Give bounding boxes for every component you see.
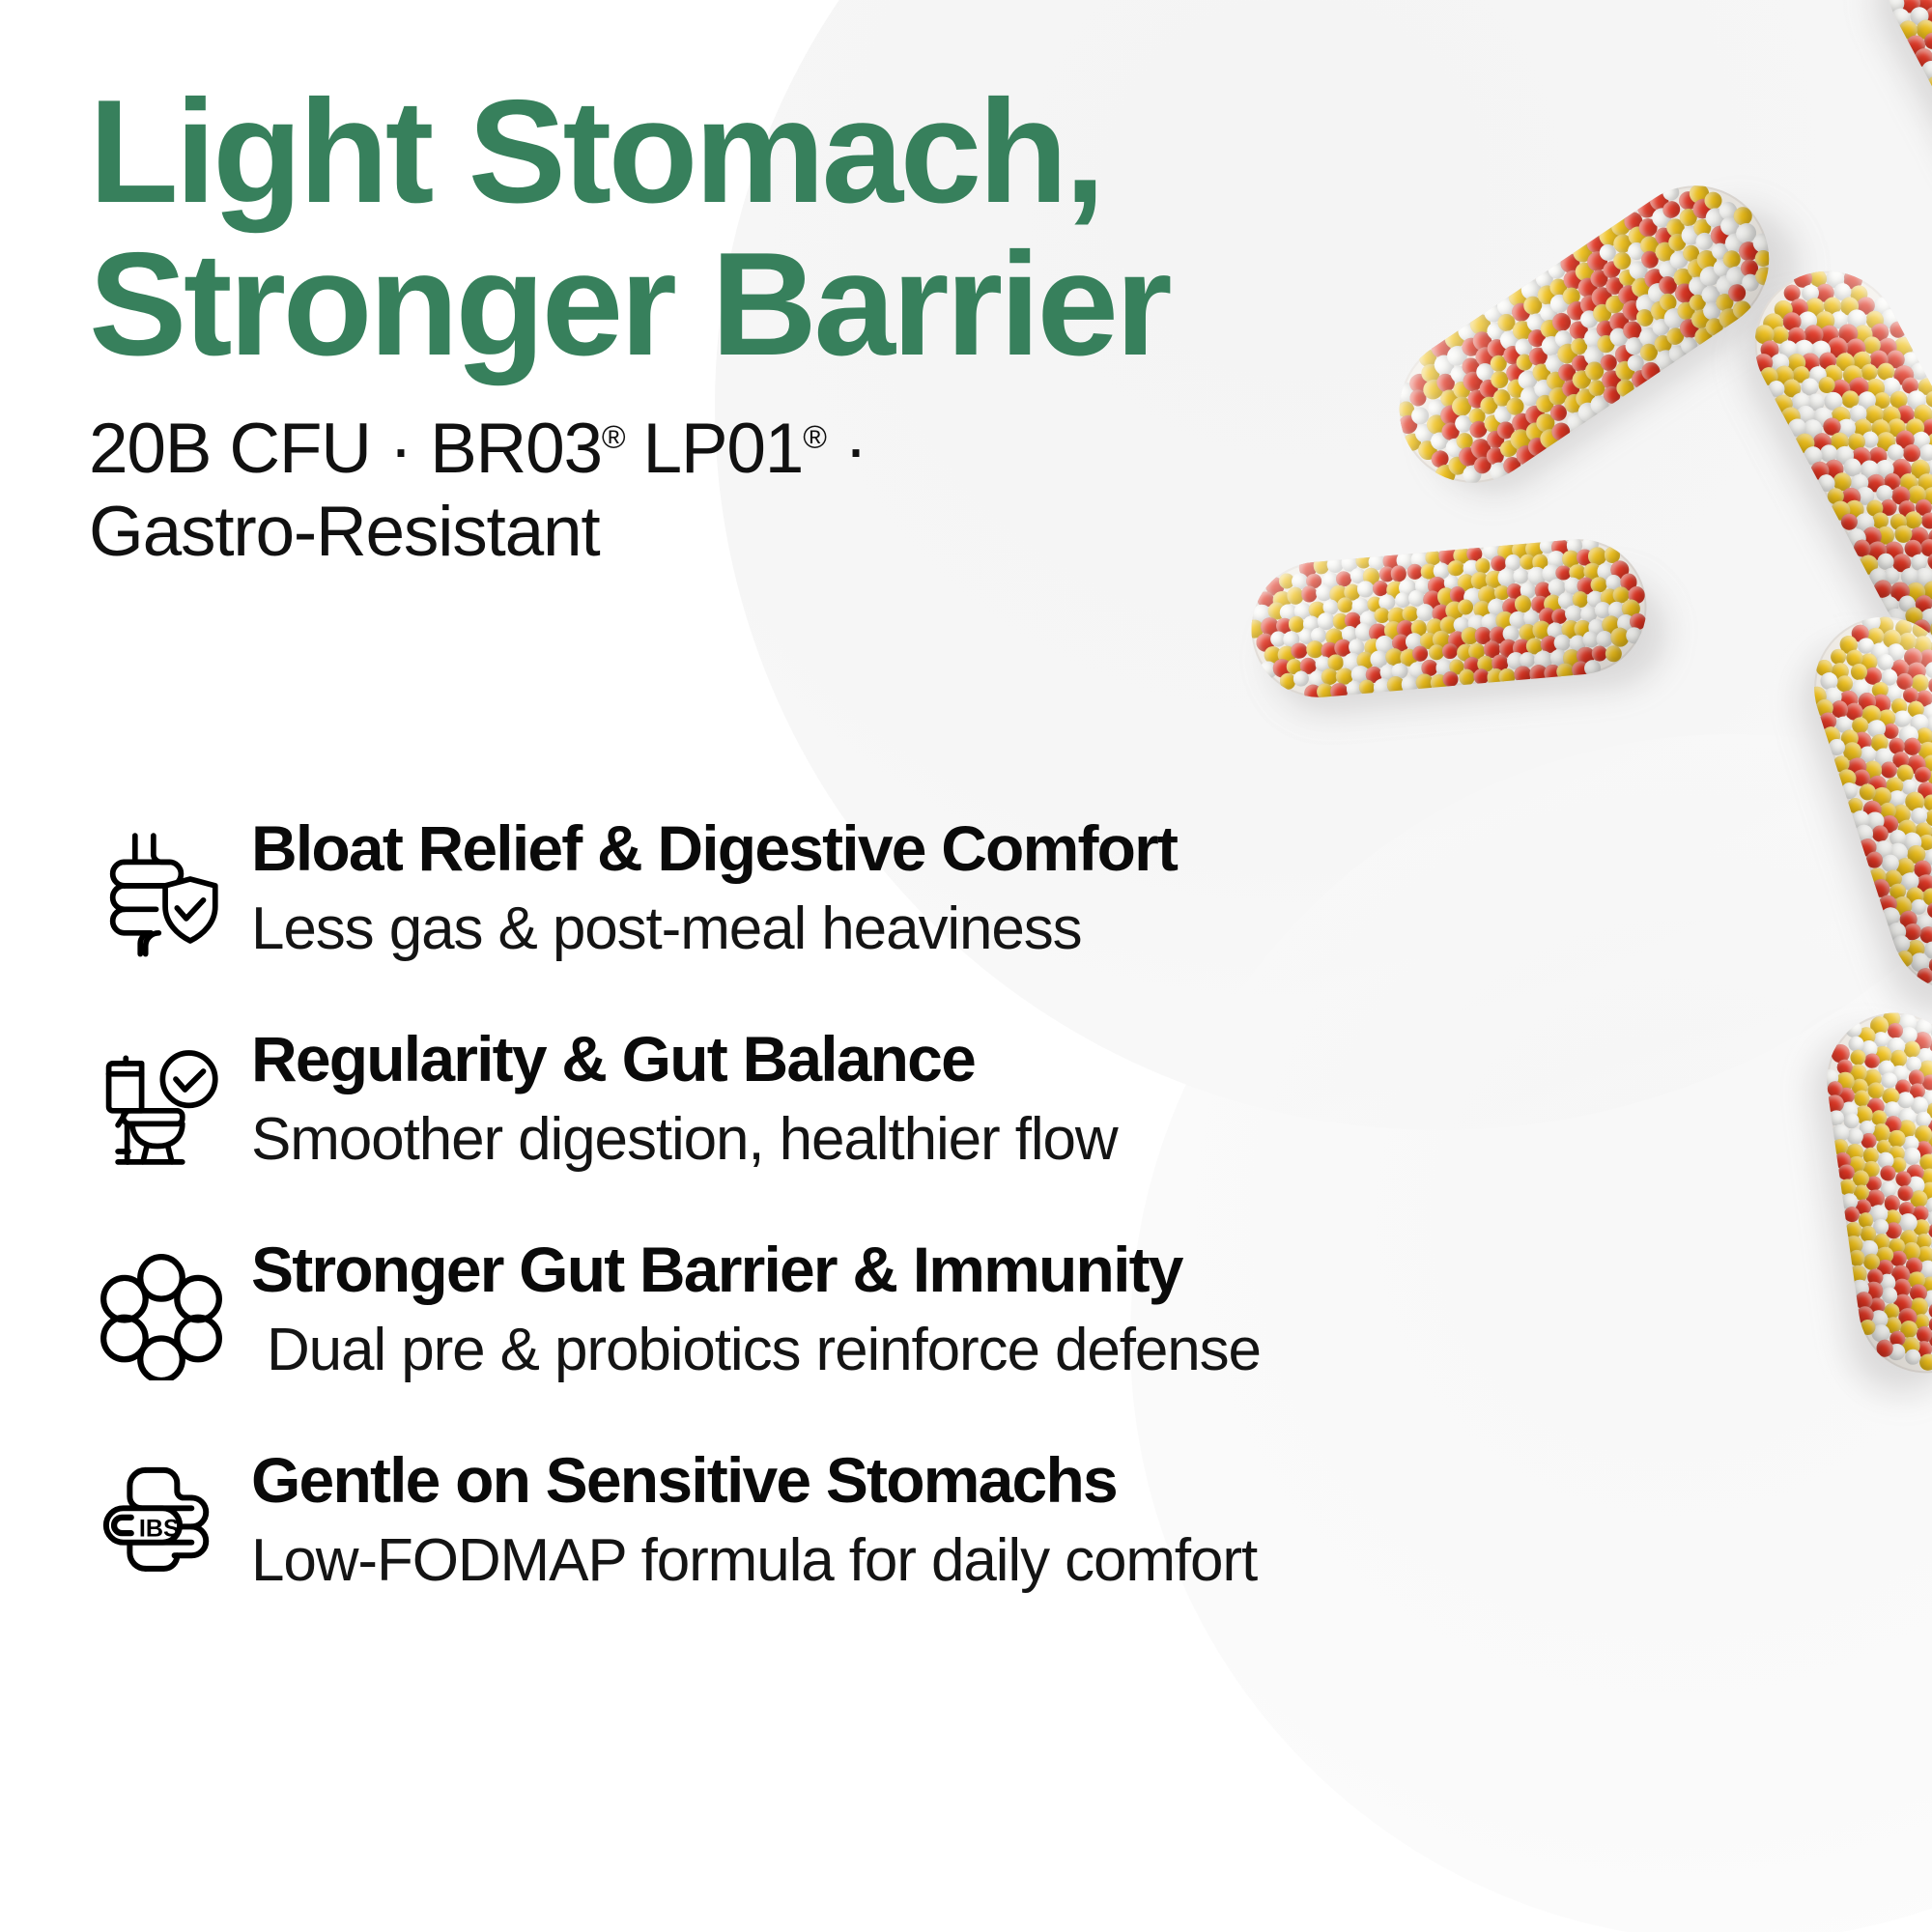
subtitle-part-1: 20B CFU · BR03 [89,410,602,488]
capsule-bead [1889,483,1913,507]
capsule-bead [1651,332,1675,356]
capsule-bead [1587,267,1611,291]
capsule-bead [1812,280,1837,305]
capsule-bead [1565,605,1583,623]
capsule-bead [1396,619,1415,639]
capsule-bead [1484,319,1507,342]
capsule-bead [1616,614,1635,634]
capsule-bead [1860,703,1883,726]
capsule-bead [1600,588,1619,608]
capsule-bead [1277,645,1296,665]
capsule-bead [1848,444,1874,470]
capsule-bead [1278,573,1294,589]
capsule-bead [1787,296,1812,321]
capsule-bead [1523,419,1548,443]
capsule-bead [1923,72,1932,99]
capsule-bead [1915,966,1932,986]
capsule-bead [1913,820,1932,842]
capsule-bead [1872,838,1895,862]
capsule-bead [1656,258,1680,282]
capsule-bead [1780,377,1804,401]
capsule-bead [1898,349,1922,373]
capsule-bead [1884,1209,1902,1228]
capsule-bead [1267,602,1287,621]
capsule-bead [1896,1107,1917,1127]
capsule-bead [1915,1340,1932,1358]
capsule-bead [1857,781,1878,803]
capsule-bead [1906,1163,1925,1182]
capsule-bead [1624,222,1651,249]
capsule-bead [1816,350,1839,373]
capsule-bead [1862,1147,1880,1164]
capsule-bead [1432,604,1452,624]
capsule-bead [1547,275,1571,299]
capsule-shadow [1804,1027,1932,1401]
capsule-bead [1845,1221,1863,1239]
capsule-bead [1897,1012,1918,1033]
capsule-bead [1690,216,1715,241]
capsule-bead [1493,584,1510,601]
capsule-bead [1575,399,1602,426]
capsule-bead [1330,682,1349,700]
capsule-bead [1729,298,1754,323]
capsule-bead [1453,430,1476,453]
capsule-bead [1837,1163,1856,1181]
capsule-bead [1896,1091,1915,1109]
capsule-bead [1896,1184,1914,1202]
capsule-bead [1890,1264,1911,1285]
capsule-bead [1837,634,1860,656]
capsule-bead [1884,347,1909,372]
capsule-bead [1840,740,1864,764]
capsule-bead [1384,647,1404,667]
capsule-bead [1411,420,1436,445]
capsule-bead [1887,1022,1904,1039]
capsule-bead [1629,612,1647,631]
capsule-bead [1927,1131,1932,1151]
capsule-bead [1311,627,1327,643]
capsule-bead [1300,585,1318,603]
capsule-bead [1423,590,1443,611]
capsule-bead [1543,368,1569,394]
capsule-bead [1547,401,1570,424]
capsule-bead [1534,582,1552,600]
capsule-bead [1554,340,1582,368]
capsule-bead [1878,375,1903,400]
capsule-bead [1927,617,1932,641]
capsule-bead [1684,256,1711,283]
capsule-bead [1917,1245,1932,1264]
capsule-bead [1635,215,1661,241]
capsule-bead [1656,273,1681,298]
capsule-bead [1807,458,1833,483]
feature-title: Bloat Relief & Digestive Comfort [251,813,1673,884]
capsule-bead [1350,665,1370,684]
capsule-bead [1908,1069,1926,1088]
capsule-bead [1888,5,1913,30]
capsule-bead [1838,511,1861,533]
subtitle-part-3: · [826,410,867,488]
capsule-bead [1854,1291,1873,1310]
capsule-bead [1830,469,1855,494]
capsule-bead [1909,429,1932,453]
capsule-bead [1882,683,1904,705]
capsule-bead [1346,680,1363,697]
capsule-bead [1875,1138,1892,1155]
capsule-bead [1428,430,1451,453]
capsule-bead [1850,1078,1869,1097]
capsule-bead [1496,327,1522,354]
capsule-bead [1923,713,1932,736]
capsule-bead [1855,388,1879,412]
capsule-bead [1817,441,1840,465]
capsule-bead [1611,341,1638,368]
capsule-bead [1890,895,1915,919]
capsule-bead [1848,1264,1869,1285]
capsule-bead [1912,859,1932,880]
capsule-bead [1875,652,1896,673]
capsule-bead [1821,388,1845,412]
capsule-bead [1900,441,1923,465]
capsule-bead [1860,333,1883,356]
capsule-bead [1926,955,1932,976]
capsule-bead [1303,684,1322,703]
capsule-bead [1533,410,1558,435]
capsule-bead [1839,387,1863,412]
capsule-bead [1625,239,1649,263]
capsule-bead [1585,376,1608,399]
capsule-bead [1420,563,1437,581]
capsule-bead [1259,661,1278,680]
capsule-bead [1607,602,1626,620]
capsule-bead [1387,607,1406,626]
capsule-bead [1918,1260,1932,1279]
capsule-bead [1848,677,1872,701]
capsule-bead [1806,363,1830,386]
capsule-bead [1889,1249,1908,1267]
capsule-bead [1909,671,1931,694]
capsule-bead [1272,590,1292,610]
capsule-bead [1888,828,1908,848]
capsule-bead [1575,274,1602,301]
capsule-bead [1859,429,1881,451]
capsule-bead [1892,1293,1913,1314]
capsule-bead [1476,655,1494,673]
capsule-bead [1634,306,1657,329]
capsule-bead [1378,594,1396,611]
capsule-bead [1853,1184,1870,1202]
capsule-bead [1456,643,1475,663]
capsule-bead [1495,611,1515,631]
capsule-bead [1927,1222,1932,1239]
capsule-bead [1858,744,1879,765]
capsule-bead [1903,32,1929,58]
capsule-bead [1834,320,1861,346]
capsule-bead [1927,1302,1932,1320]
capsule-bead [1721,230,1748,257]
capsule-bead [1820,724,1842,747]
capsule-bead [1393,379,1421,407]
capsule-bead [1757,337,1782,362]
capsule-bead [1872,1233,1890,1251]
capsule-bead [1594,602,1611,619]
capsule-bead [1419,632,1437,650]
capsule-bead [1921,1275,1932,1293]
capsule-bead [1912,1205,1929,1222]
capsule-bead [1855,1198,1872,1215]
capsule-bead [1583,562,1602,581]
capsule-bead [1914,1124,1932,1145]
capsule-bead [1548,578,1567,597]
capsule-bead [1870,1323,1890,1344]
capsule-bead [1256,633,1276,653]
capsule-bead [1848,1036,1865,1053]
capsule-bead [1814,696,1836,719]
capsule-bead [1620,209,1646,235]
capsule-bead [1426,618,1445,638]
capsule-bead [1442,670,1459,687]
capsule-bead [1599,366,1626,393]
capsule-bead [1614,377,1637,400]
capsule-bead [1411,645,1428,662]
capsule-bead [1482,412,1505,435]
capsule-bead [1883,1100,1901,1119]
capsule-bead [1843,526,1869,552]
feature-text: Bloat Relief & Digestive Comfort Less ga… [251,811,1673,963]
capsule-bead [1509,611,1528,630]
capsule-bead [1569,352,1592,375]
capsule-bead [1921,1089,1932,1108]
capsule-bead [1548,292,1573,317]
capsule-bead [1414,438,1440,464]
capsule-bead [1674,299,1697,323]
capsule-bead [1913,765,1932,785]
capsule-bead [1569,239,1596,266]
capsule-bead [1845,374,1871,400]
capsule-bead [1905,1176,1925,1196]
capsule-bead [1752,263,1778,289]
capsule-bead [1924,551,1932,574]
capsule-bead [1887,788,1908,810]
capsule-bead [1519,623,1537,641]
capsule-bead [1918,58,1932,84]
capsule-bead [1428,334,1455,361]
capsule-bead [1477,393,1501,417]
capsule-bead [1915,1111,1932,1128]
capsule-bead [1884,1221,1903,1240]
capsule-bead [1551,327,1575,351]
capsule-bead [1883,867,1904,889]
capsule-bead [1925,768,1932,789]
capsule-bead [1851,510,1877,536]
capsule-bead [1831,280,1855,304]
capsule-bead [1913,17,1932,43]
capsule-bead [1514,666,1532,684]
capsule-bead [1483,427,1508,452]
capsule-bead [1605,574,1622,591]
capsule-bead [1903,605,1926,628]
capsule-bead [1550,608,1568,625]
feature-list: Bloat Relief & Digestive Comfort Less ga… [89,811,1673,1654]
capsule-bead [1784,324,1808,348]
capsule-bead [1621,599,1641,619]
capsule-bead [1828,497,1854,524]
capsule-bead [1902,508,1925,531]
capsule-body [1796,599,1932,1009]
capsule-bead [1500,343,1525,368]
capsule-bead [1882,470,1904,493]
capsule-bead [1899,374,1922,397]
capsule-bead [1537,316,1563,342]
capsule-bead [1814,658,1834,678]
capsule-bead [1573,385,1599,412]
capsule-bead [1463,587,1484,608]
capsule-bead [1883,1302,1900,1320]
capsule-bead [1602,614,1622,635]
capsule-bead [1485,336,1509,360]
capsule-bead [1738,257,1762,281]
capsule-bead [1860,1319,1877,1336]
capsule-bead [1359,610,1378,629]
capsule-bead [1279,673,1296,691]
capsule-bead [1828,404,1854,430]
capsule-bead [1452,546,1470,564]
capsule-bead [1439,616,1459,636]
capsule-bead [1436,386,1461,411]
capsule-bead [1859,524,1885,550]
capsule-bead [1342,653,1362,673]
capsule-bead [1901,645,1924,668]
capsule-bead [1921,29,1932,51]
capsule-bead [1886,1037,1906,1057]
capsule-bead [1386,581,1406,600]
capsule-bead [1425,395,1450,420]
capsule-bead [1442,435,1468,461]
capsule-bead [1463,385,1490,412]
capsule-bead [1923,807,1932,829]
capsule-bead [1332,612,1350,630]
capsule-bead [1902,537,1925,560]
capsule-bead [1720,247,1745,271]
capsule-bead [1866,565,1889,588]
feature-text: Stronger Gut Barrier & Immunity Dual pre… [251,1233,1673,1384]
capsule-bead [1861,1253,1880,1271]
capsule-bead [1894,949,1915,969]
capsule-bead [1925,861,1932,885]
capsule-bead [1452,412,1475,436]
capsule-bead [1588,547,1607,566]
capsule-bead [1514,351,1537,374]
capsule-bead [1566,318,1591,343]
capsule-bead [1856,1305,1875,1324]
capsule-bead [1895,497,1918,520]
capsule-bead [1851,767,1872,788]
capsule-bead [1903,580,1928,605]
bacteria-cluster-icon [89,1242,234,1387]
capsule-bead [1701,188,1726,213]
capsule-bead [1829,647,1849,668]
capsule-bead [1644,279,1671,306]
capsule-bead [1400,648,1418,667]
capsule-bead [1876,1151,1895,1170]
capsule-bead [1372,581,1388,597]
capsule-bead [1533,392,1556,415]
capsule-bead [1925,727,1932,751]
capsule-bead [1429,447,1453,471]
capsule-bead [1502,598,1521,617]
capsule-bead [1911,617,1932,639]
capsule-bead [1574,619,1592,638]
capsule-bead [1839,781,1860,801]
capsule-bead [1604,547,1621,564]
capsule-bead [1633,291,1660,318]
capsule-bead [1815,471,1837,494]
capsule-bead [1857,691,1879,713]
capsule-bead [1799,281,1822,304]
capsule-bead [1903,415,1927,440]
capsule-bead [1827,308,1851,332]
capsule-bead [1472,668,1489,685]
capsule-bead [1447,559,1464,577]
capsule-bead [1910,1095,1929,1115]
capsule-bead [1504,394,1528,418]
capsule-bead [1915,872,1932,895]
capsule-bead [1844,1020,1863,1039]
capsule-bead [1665,341,1690,365]
capsule-shadow [1266,573,1670,718]
capsule-bead [1661,304,1689,332]
capsule-bead [1829,698,1850,720]
capsule-bead [1509,411,1535,437]
capsule-bead [1597,561,1616,581]
capsule-bead [1308,669,1327,689]
capsule-bead [1327,654,1345,671]
capsule-bead [1587,618,1605,637]
capsule-bead [1636,340,1662,365]
subtitle-line-2: Gastro-Resistant [89,493,599,571]
capsule-bead [1865,1188,1886,1208]
capsule-bead [1890,933,1913,955]
capsule-bead [1913,1018,1932,1038]
capsule-bead [1880,565,1902,587]
capsule-bead [1557,591,1576,610]
feature-subtitle: Low-FODMAP formula for daily comfort [251,1527,1673,1596]
capsule-bead [1905,753,1929,777]
capsule-bead [1581,343,1607,369]
capsule-bead [1343,583,1361,602]
capsule-bead [1367,596,1384,613]
capsule-body [1371,157,1797,511]
capsule-bead [1537,300,1561,325]
capsule-bead [1852,822,1875,845]
capsule-bead [1416,346,1440,370]
feature-title: Regularity & Gut Balance [251,1024,1673,1094]
capsule-bead [1868,1205,1889,1225]
capsule-bead [1862,666,1885,688]
capsule-bead [1439,419,1463,442]
capsule-bead [1817,710,1839,732]
capsule-bead [1821,685,1844,708]
capsule-bead [1445,453,1469,477]
capsule-bead [1843,700,1865,723]
capsule-bead [1831,753,1852,775]
capsule-bead [1849,662,1869,682]
capsule-bead [1449,393,1475,419]
capsule-bead [1893,428,1918,452]
capsule-bead [1470,453,1494,477]
capsule-bead [1888,1129,1907,1149]
capsule-bead [1838,484,1864,510]
